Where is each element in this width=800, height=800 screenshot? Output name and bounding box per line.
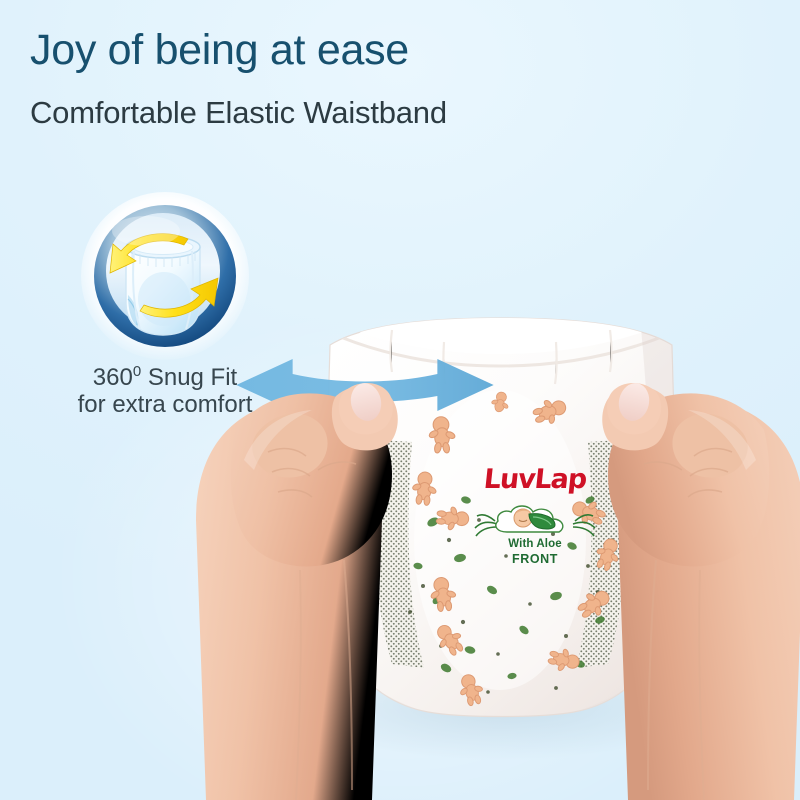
right-hand-holding-diaper bbox=[602, 380, 800, 800]
marketing-image-canvas: Joy of being at ease Comfortable Elastic… bbox=[0, 0, 800, 800]
product-photo bbox=[0, 0, 800, 800]
left-hand-holding-diaper bbox=[196, 380, 398, 800]
